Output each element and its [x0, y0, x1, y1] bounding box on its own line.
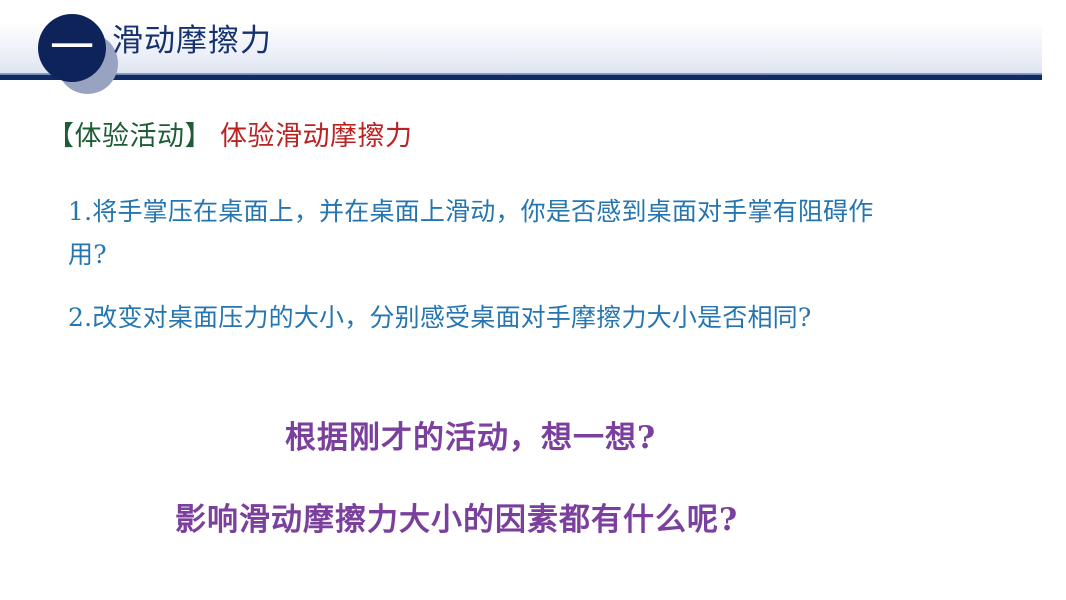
activity-heading: 【体验活动】体验滑动摩擦力 — [47, 120, 413, 154]
activity-heading-subject: 体验滑动摩擦力 — [220, 121, 413, 152]
page-title: 滑动摩擦力 — [112, 21, 272, 61]
header-divider-rule — [0, 73, 1042, 80]
activity-item-2: 2.改变对桌面压力的大小，分别感受桌面对手摩擦力大小是否相同? — [68, 296, 968, 339]
slide-canvas: 一 滑动摩擦力 【体验活动】体验滑动摩擦力 1.将手掌压在桌面上，并在桌面上滑动… — [0, 0, 1066, 600]
question-line-2: 影响滑动摩擦力大小的因素都有什么呢? — [175, 500, 738, 540]
activity-heading-tag: 【体验活动】 — [47, 121, 212, 152]
activity-item-1: 1.将手掌压在桌面上，并在桌面上滑动，你是否感到桌面对手掌有阻碍作用? — [68, 190, 898, 276]
question-line-1: 根据刚才的活动，想一想? — [285, 418, 656, 458]
number-one-chinese-icon: 一 — [38, 14, 106, 82]
